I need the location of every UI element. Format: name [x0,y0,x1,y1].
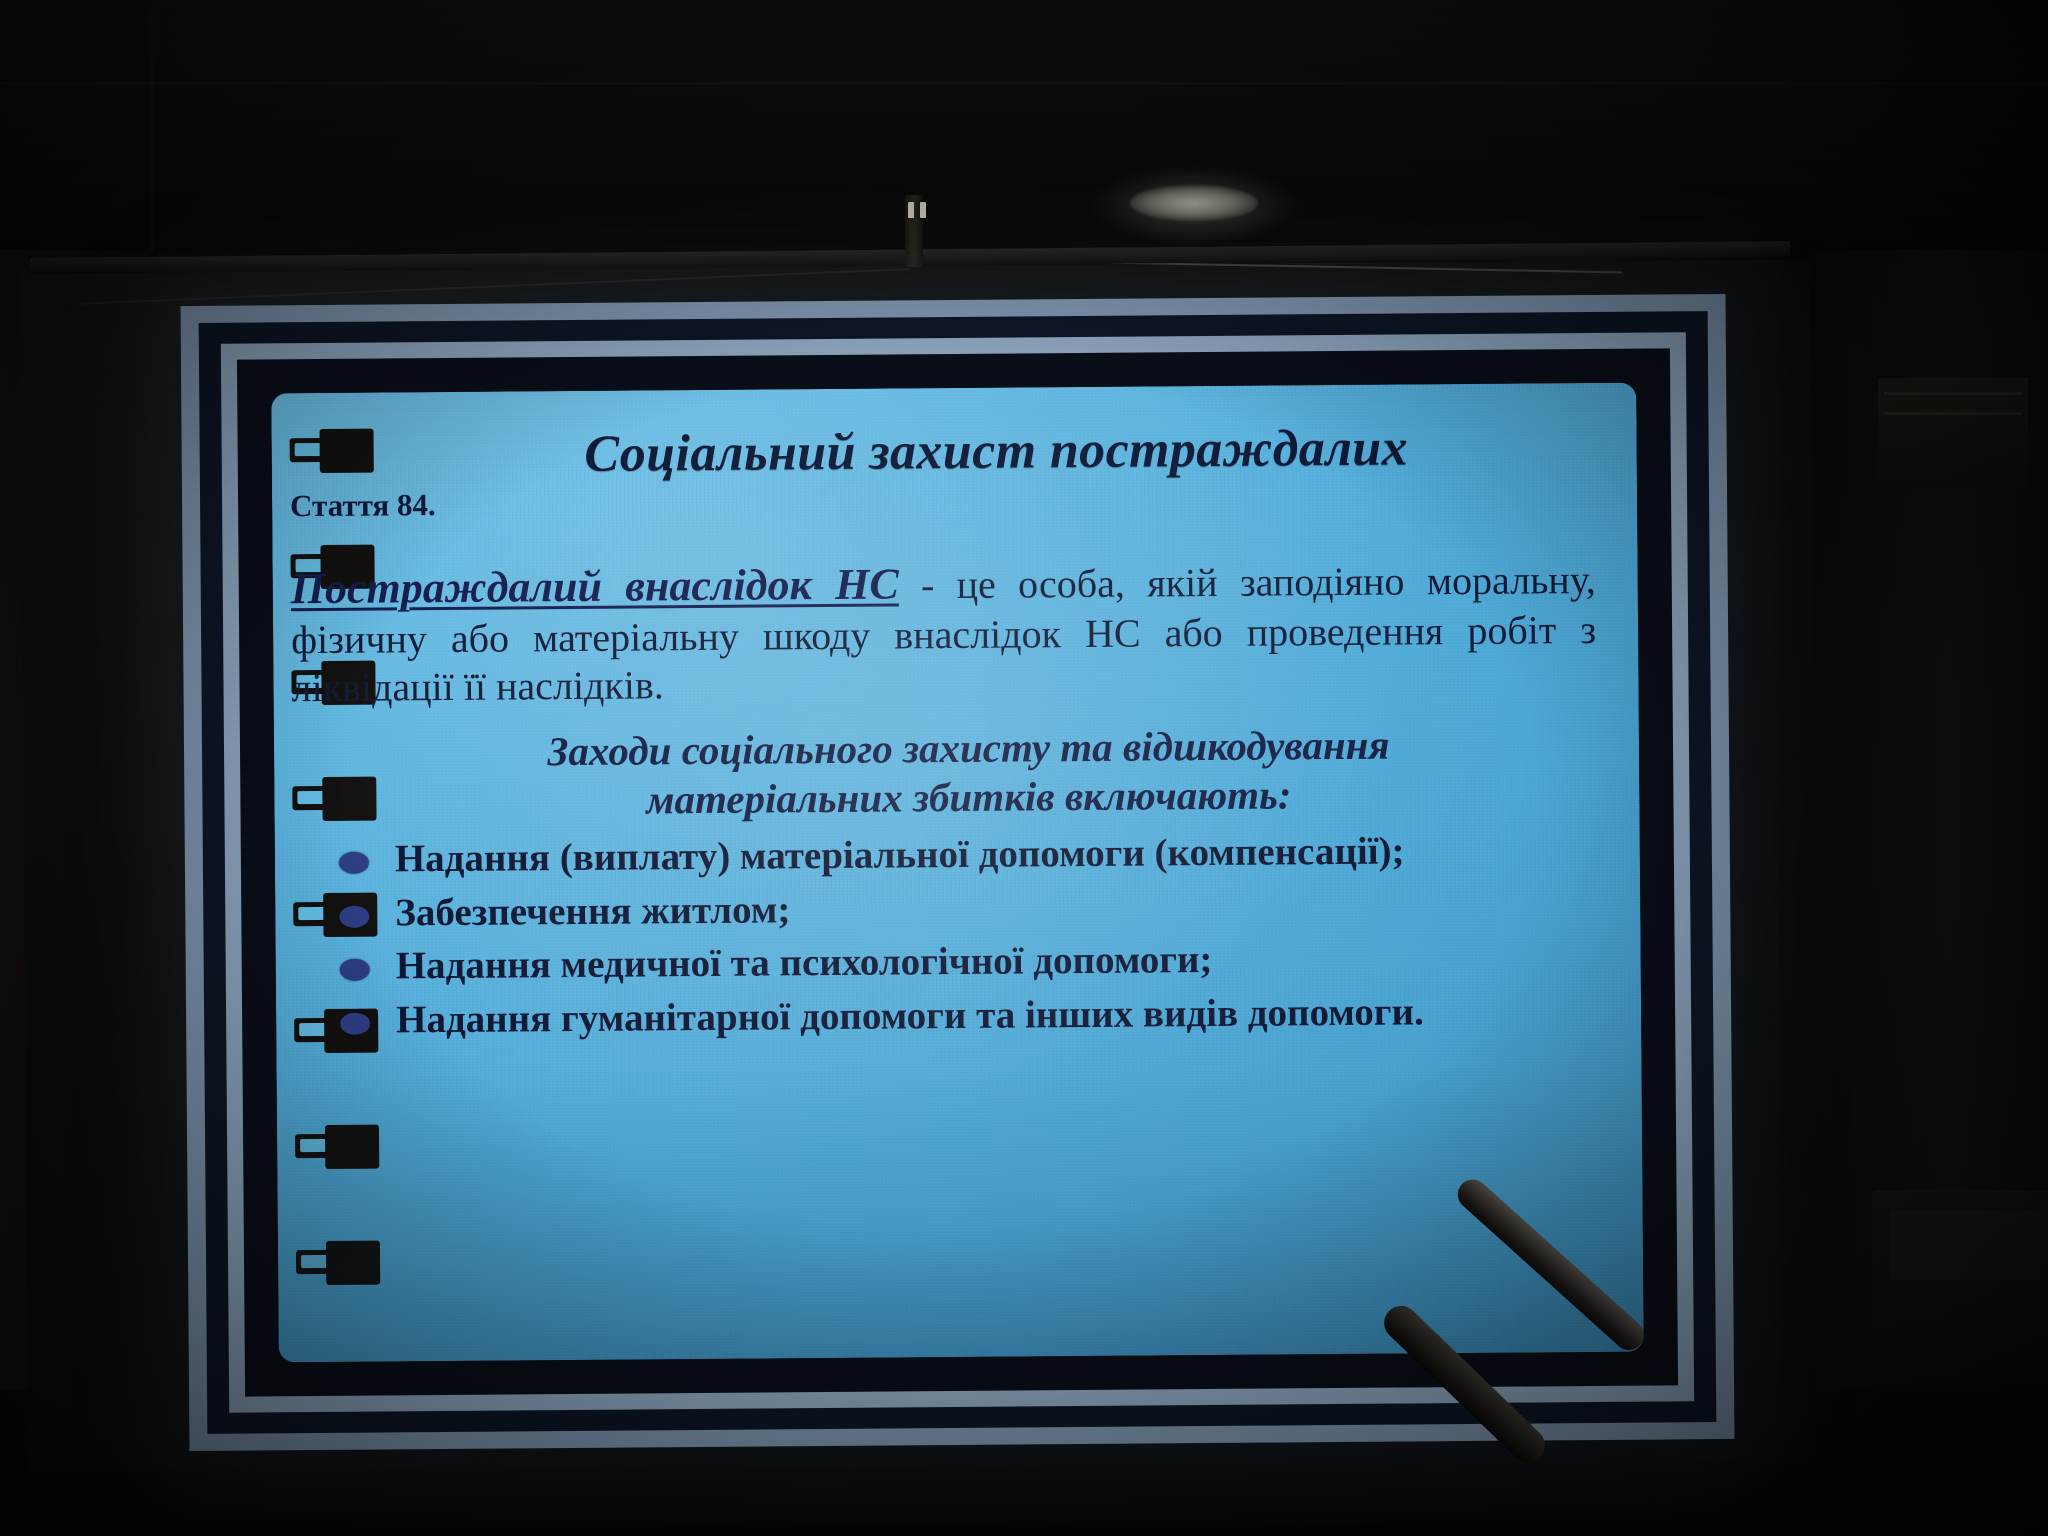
list-item: Надання медичної та психологічної допомо… [318,933,1599,991]
projected-slide: Соціальний захист постраждалих Стаття 84… [181,294,1735,1451]
binding-ring-icon [289,429,373,474]
slide-paper: Соціальний захист постраждалих Стаття 84… [271,383,1644,1363]
definition-term: Постраждалий внаслідок НС [291,559,899,613]
list-item: Надання гуманітарної допомоги та інших в… [318,987,1599,1045]
bullet-dot-icon [339,905,369,927]
chair-backrest [1890,1210,2040,1280]
wall-panel-line [1884,392,2022,395]
list-item-label: Надання медичної та психологічної допомо… [396,938,1213,987]
bracket-highlight [920,202,926,218]
binding-ring-icon [295,1125,379,1170]
ceiling-lamp-icon [1130,185,1258,221]
list-item: Забезпечення житлом; [317,880,1598,938]
measures-list: Надання (виплату) матеріальної допомоги … [317,826,1600,1044]
ceiling-seam-vertical [150,0,154,270]
bullet-dot-icon [339,852,369,874]
bullet-dot-icon [340,959,370,981]
wall-panel-line [1884,412,2022,415]
list-item-label: Надання (виплату) матеріальної допомоги … [395,830,1405,881]
ceiling-seam [0,82,2048,85]
article-label: Стаття 84. [290,478,1595,524]
slide-content: Соціальний захист постраждалих Стаття 84… [397,399,1601,1351]
subheading-line-2: матеріальних збитків включають: [340,768,1597,826]
bullet-dot-icon [340,1012,370,1034]
slide-title: Соціальний захист постраждалих [397,417,1594,485]
definition-paragraph: Постраждалий внаслідок НС - це особа, як… [291,552,1597,714]
binding-ring-icon [296,1241,380,1286]
list-item-label: Надання гуманітарної допомоги та інших в… [396,990,1424,1041]
list-item: Надання (виплату) матеріальної допомоги … [317,826,1598,884]
photo-scene: Соціальний захист постраждалих Стаття 84… [0,0,2048,1536]
bracket-highlight [908,202,914,218]
subheading: Заходи соціального захисту та відшкодува… [340,719,1598,826]
ceiling [0,0,2048,270]
list-item-label: Забезпечення житлом; [395,888,790,934]
